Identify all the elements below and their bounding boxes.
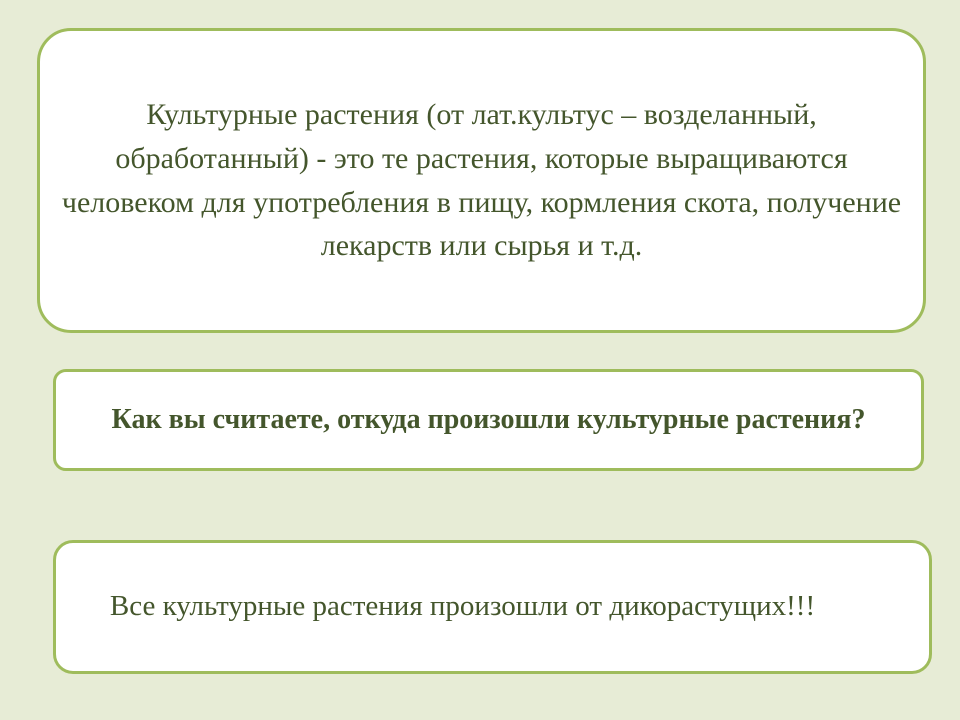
answer-callout-box: Все культурные растения произошли от дик… [53, 540, 932, 674]
question-callout-box: Как вы считаете, откуда произошли культу… [53, 369, 924, 471]
question-text: Как вы считаете, откуда произошли культу… [60, 400, 918, 440]
answer-text: Все культурные растения произошли от дик… [103, 586, 823, 628]
slide-canvas: Культурные растения (от лат.культус – во… [0, 0, 960, 720]
definition-callout-box: Культурные растения (от лат.культус – во… [37, 28, 926, 333]
definition-text: Культурные растения (от лат.культус – во… [40, 93, 923, 268]
